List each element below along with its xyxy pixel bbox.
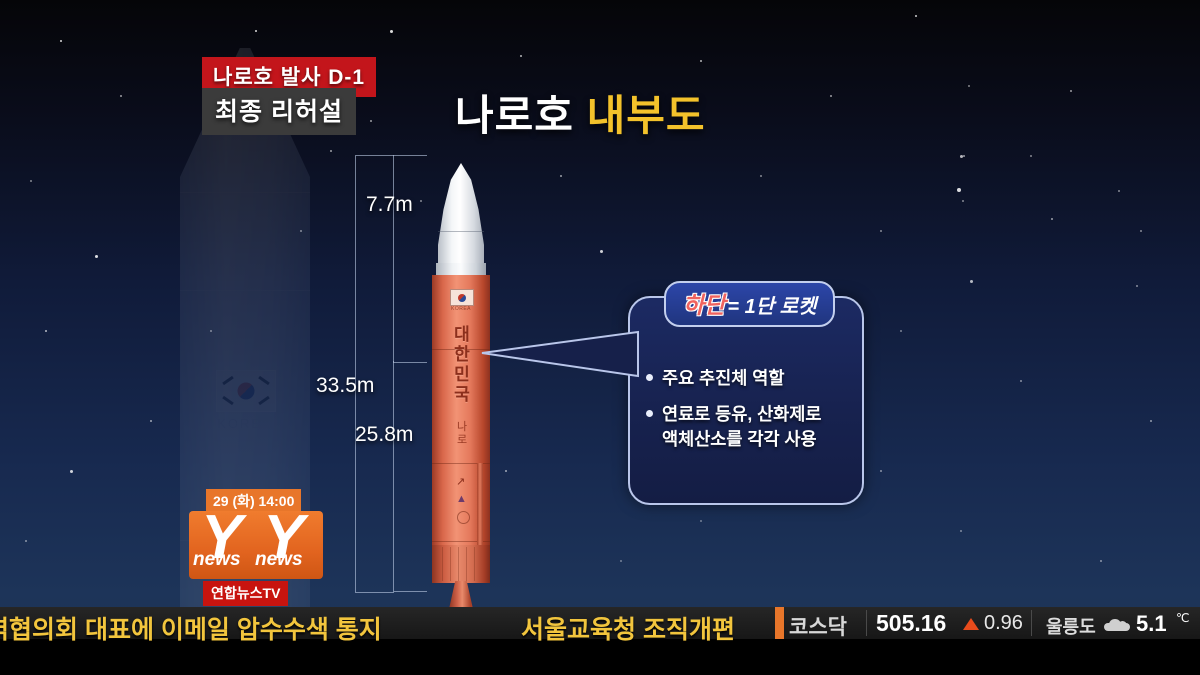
- market-up-arrow-icon: [963, 618, 979, 630]
- callout-bullet-1: 주요 추진체 역할: [646, 366, 784, 391]
- ghost-ring: [180, 192, 310, 193]
- callout-pointer: [480, 330, 640, 378]
- logo-news-1: news: [193, 549, 241, 571]
- callout-header-rest: = 1단 로켓: [727, 296, 816, 318]
- engine-nozzle: [449, 581, 473, 609]
- callout-header: 하단= 1단 로켓: [664, 281, 835, 327]
- callout-header-highlight: 하단: [683, 292, 725, 318]
- weather-city: 울릉도: [1046, 613, 1096, 639]
- weather-unit: ℃: [1176, 611, 1189, 625]
- market-change-value: 0.96: [984, 612, 1023, 635]
- ticker-headline-1: 역협의회 대표에 이메일 압수수색 통지: [0, 610, 382, 646]
- ticker-separator: [775, 607, 784, 639]
- rocket-diagram: KOREA 대한민국 나로 ↗ ▲: [432, 163, 490, 595]
- nose-seam: [438, 231, 484, 232]
- rocket-marking-circle-icon: [457, 511, 470, 524]
- korean-flag-icon: [450, 289, 474, 306]
- rocket-name-text: 나로: [454, 421, 470, 447]
- market-index-value: 505.16: [876, 610, 946, 637]
- rocket-vertical-text: 대한민국: [454, 325, 470, 405]
- page-title: 나로호 내부도: [455, 82, 706, 143]
- dimension-label-lower: 25.8m: [355, 423, 413, 447]
- nose-cone: [438, 163, 484, 268]
- bullet-dot-icon: [646, 374, 653, 381]
- logo-news-2: news: [255, 549, 303, 571]
- weather-temperature: 5.1: [1136, 611, 1167, 637]
- rocket-flag-label: KOREA: [446, 306, 476, 312]
- bullet-dot-icon: [646, 410, 653, 417]
- dimension-bracket-upper: [393, 155, 427, 363]
- channel-name: 연합뉴스TV: [203, 581, 288, 606]
- ghost-korea-label: KOREA: [180, 416, 310, 431]
- dimension-label-upper: 7.7m: [366, 193, 413, 217]
- title-yellow-part: 내부도: [587, 92, 706, 139]
- ticker-headline-2: 서울교육청 조직개편: [521, 610, 735, 646]
- callout-bullet-2-text: 연료로 등유, 산화제로: [662, 404, 822, 424]
- callout-box: 주요 추진체 역할 연료로 등유, 산화제로 액체산소를 각각 사용: [628, 296, 864, 505]
- ticker-divider: [866, 610, 867, 636]
- market-index-label: 코스닥: [789, 611, 847, 641]
- korean-flag-icon: [216, 370, 276, 412]
- ticker-divider: [1031, 610, 1032, 636]
- broadcast-screen: KOREA 나로호 발사 D-1 최종 리허설 나로호 내부도 7.7m 33.…: [0, 0, 1200, 675]
- rocket-marking-triangle-icon: ▲: [456, 493, 467, 505]
- dimension-label-total: 33.5m: [316, 374, 374, 398]
- callout-bullet-2: 연료로 등유, 산화제로 액체산소를 각각 사용: [646, 402, 822, 452]
- callout-bullet-1-text: 주요 추진체 역할: [662, 368, 784, 388]
- cloud-icon: [1104, 619, 1130, 631]
- yonhap-logo-mark: Y Y news news: [189, 511, 323, 579]
- dimension-bracket-lower: [393, 361, 427, 592]
- ghost-ring: [180, 290, 310, 291]
- title-white-part: 나로호: [455, 92, 574, 139]
- channel-logo: 29 (화) 14:00 Y Y news news 연합뉴스TV: [189, 489, 323, 604]
- banner-subtitle: 최종 리허설: [202, 88, 356, 135]
- news-ticker: 역협의회 대표에 이메일 압수수색 통지 서울교육청 조직개편 코스닥 505.…: [0, 607, 1200, 675]
- engine-section: [432, 545, 490, 583]
- rocket-marking-arrow-icon: ↗: [456, 475, 465, 488]
- callout-bullet-2-text-cont: 액체산소를 각각 사용: [662, 427, 822, 452]
